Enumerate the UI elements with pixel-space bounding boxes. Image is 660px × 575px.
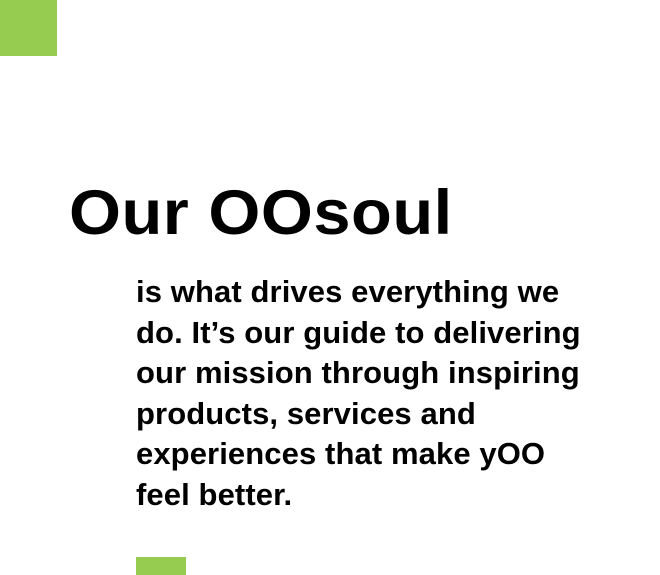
body-line: do. It’s our guide to delivering — [136, 313, 660, 354]
body-line: is what drives everything we — [136, 272, 660, 313]
page-title: Our OOsoul — [69, 178, 453, 248]
poster-canvas: Our OOsoul is what drives everything we … — [0, 0, 660, 575]
body-line: products, services and — [136, 394, 660, 435]
green-bar-bottom — [136, 557, 186, 575]
body-paragraph: is what drives everything we do. It’s ou… — [136, 272, 660, 516]
green-square-top-left — [0, 0, 57, 56]
body-line: our mission through inspiring — [136, 353, 660, 394]
body-line: experiences that make yOO — [136, 434, 660, 475]
body-line: feel better. — [136, 475, 660, 516]
